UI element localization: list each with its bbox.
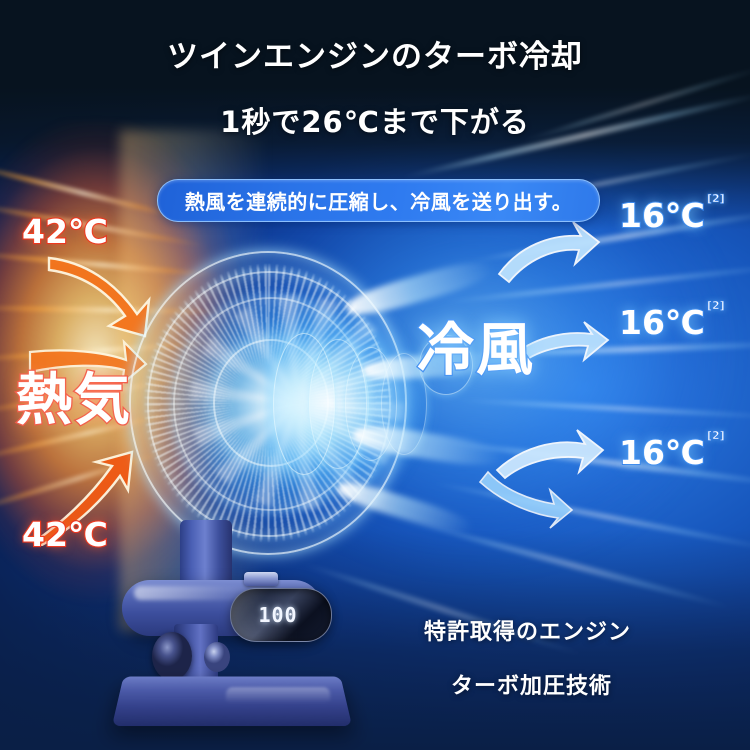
battery-level-readout: 100 xyxy=(258,603,297,627)
cold-temperature-2: 16℃ xyxy=(619,303,705,342)
cold-arrow-down-right xyxy=(478,470,574,530)
cold-temperature-2-footnote: [2] xyxy=(707,299,725,312)
cold-temperature-3: 16℃ xyxy=(619,433,705,472)
cold-temperature-3-footnote: [2] xyxy=(707,429,725,442)
cold-arrow-up-right xyxy=(497,218,601,284)
callout-pill: 熱風を連続的に圧縮し、冷風を送り出す。 xyxy=(157,179,600,222)
footer-line-2: ターボ加圧技術 xyxy=(451,668,612,700)
ad-canvas: 100 ツインエンジンのターボ冷却 1秒で26℃まで下がる 熱風を連続的に圧縮し… xyxy=(0,0,750,750)
power-button-icon[interactable] xyxy=(244,572,278,586)
fan-device-base: 100 xyxy=(118,520,348,735)
hinge-knob-icon[interactable] xyxy=(152,632,192,680)
headline-line-1: ツインエンジンのターボ冷却 xyxy=(0,31,750,76)
hinge-knob-secondary-icon[interactable] xyxy=(204,642,230,672)
callout-pill-label: 熱風を連続的に圧縮し、冷風を送り出す。 xyxy=(185,186,573,215)
hot-temperature-top: 42℃ xyxy=(22,212,108,251)
hot-air-label: 熱気 xyxy=(16,355,132,436)
device-clamp-highlight xyxy=(225,687,331,703)
cold-air-label: 冷風 xyxy=(417,304,535,386)
hot-temperature-bottom: 42℃ xyxy=(22,515,108,554)
footer-line-1: 特許取得のエンジン xyxy=(424,614,631,646)
device-display: 100 xyxy=(230,588,332,642)
cold-temperature-1-footnote: [2] xyxy=(707,192,725,205)
headline-line-2: 1秒で26℃まで下がる xyxy=(0,99,750,141)
cold-temperature-1: 16℃ xyxy=(619,196,705,235)
